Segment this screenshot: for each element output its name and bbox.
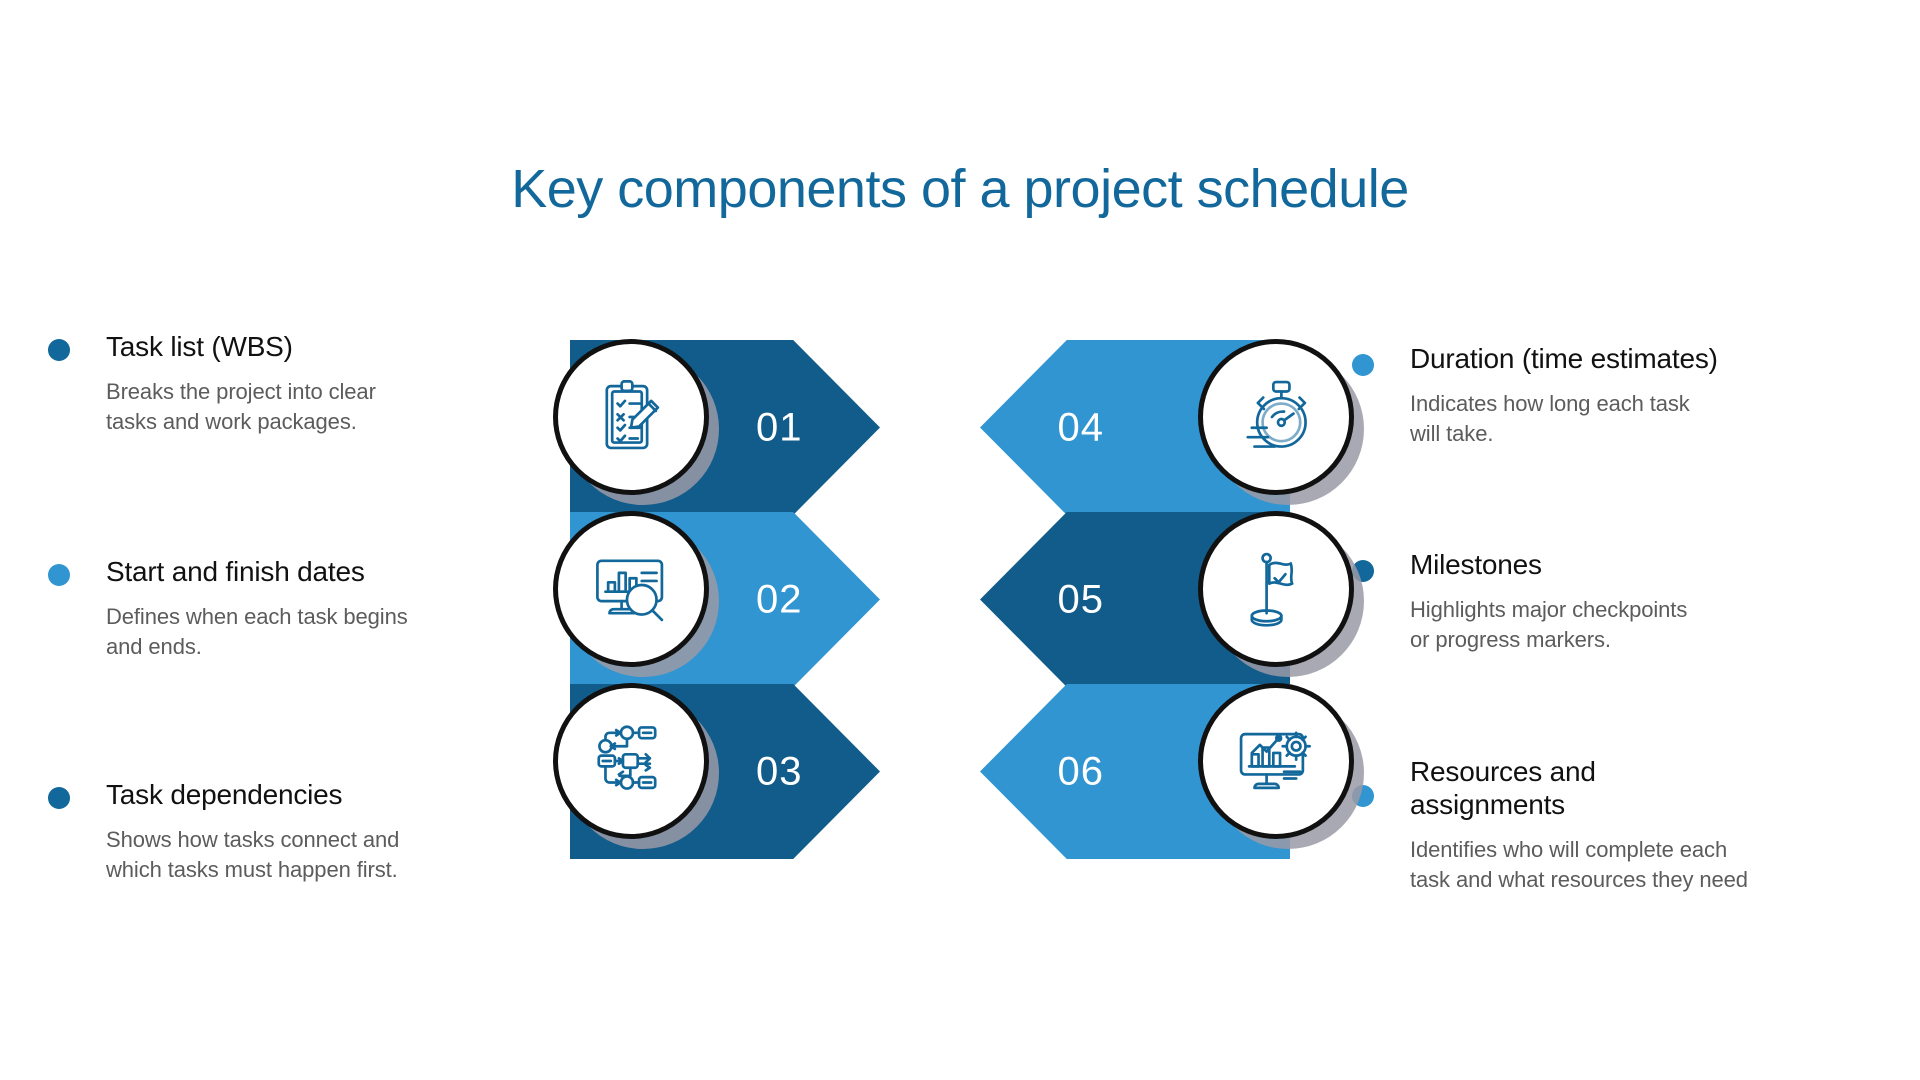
chevron-06[interactable]: 06	[1035, 684, 1355, 859]
step-number: 05	[1058, 577, 1105, 622]
clipboard-checklist-pencil-icon	[588, 374, 674, 460]
list-item-resources-assignments[interactable]: Resources and assignments Identifies who…	[1352, 755, 1872, 894]
chevron-04[interactable]: 04	[1035, 340, 1355, 515]
item-heading: Start and finish dates	[106, 555, 568, 588]
page-title: Key components of a project schedule	[0, 158, 1920, 220]
icon-circle	[553, 683, 709, 839]
item-description: Highlights major checkpoints or progress…	[1410, 595, 1872, 654]
chevron-01[interactable]: 01	[560, 340, 880, 515]
item-heading: Milestones	[1410, 548, 1872, 581]
bullet-icon	[48, 787, 70, 809]
monitor-chart-gear-icon	[1233, 718, 1319, 804]
step-number: 03	[756, 749, 803, 794]
chevron-03[interactable]: 03	[560, 684, 880, 859]
step-number: 02	[756, 577, 803, 622]
icon-circle	[1198, 511, 1354, 667]
list-item-milestones[interactable]: Milestones Highlights major checkpoints …	[1352, 548, 1872, 654]
item-heading: Task list (WBS)	[106, 330, 568, 363]
list-item-duration[interactable]: Duration (time estimates) Indicates how …	[1352, 342, 1872, 448]
item-heading: Task dependencies	[106, 778, 568, 811]
icon-circle	[1198, 683, 1354, 839]
step-number: 01	[756, 405, 803, 450]
item-description: Defines when each task begins and ends.	[106, 602, 568, 661]
chevron-05[interactable]: 05	[1035, 512, 1355, 687]
item-description: Breaks the project into clear tasks and …	[106, 377, 568, 436]
step-number: 06	[1058, 749, 1105, 794]
infographic-slide: Key components of a project schedule Tas…	[0, 0, 1920, 1080]
chevron-02[interactable]: 02	[560, 512, 880, 687]
bullet-icon	[48, 564, 70, 586]
flag-check-icon	[1233, 546, 1319, 632]
stopwatch-icon	[1233, 374, 1319, 460]
list-item-task-list[interactable]: Task list (WBS) Breaks the project into …	[48, 330, 568, 436]
item-heading: Duration (time estimates)	[1410, 342, 1872, 375]
icon-circle	[553, 339, 709, 495]
list-item-task-dependencies[interactable]: Task dependencies Shows how tasks connec…	[48, 778, 568, 884]
icon-circle	[553, 511, 709, 667]
item-heading: Resources and assignments	[1410, 755, 1872, 821]
monitor-chart-magnifier-icon	[588, 546, 674, 632]
list-item-start-finish-dates[interactable]: Start and finish dates Defines when each…	[48, 555, 568, 661]
item-description: Shows how tasks connect and which tasks …	[106, 825, 568, 884]
step-number: 04	[1058, 405, 1105, 450]
item-description: Identifies who will complete each task a…	[1410, 835, 1872, 894]
flowchart-network-icon	[588, 718, 674, 804]
bullet-icon	[48, 339, 70, 361]
item-description: Indicates how long each task will take.	[1410, 389, 1872, 448]
icon-circle	[1198, 339, 1354, 495]
